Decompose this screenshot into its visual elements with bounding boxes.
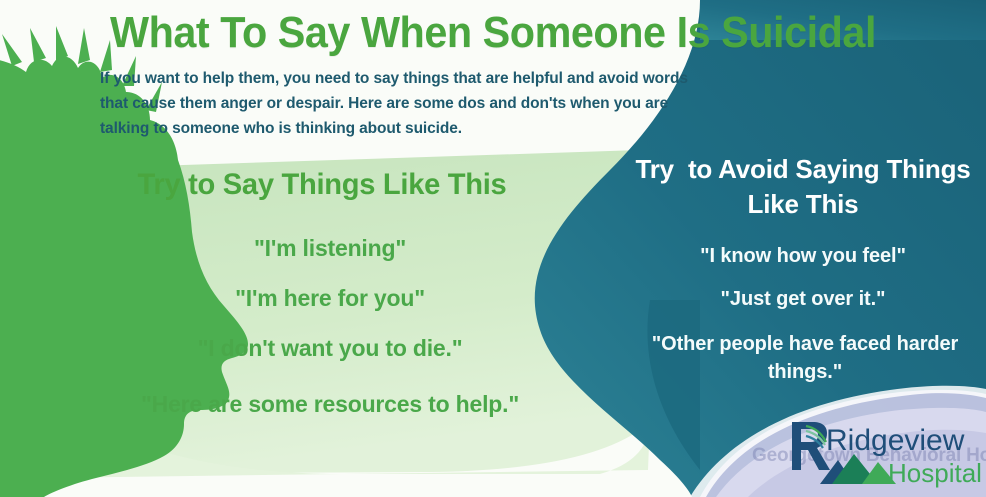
avoid-quote-item: "Other people have faced harder things." <box>640 330 970 386</box>
logo-mountain-icon <box>820 454 896 484</box>
avoid-quote-item: "Just get over it." <box>620 285 986 313</box>
do-column-heading: Try to Say Things Like This <box>70 168 574 202</box>
logo-wordmark-ridgeview: Ridgeview <box>826 424 965 457</box>
logo-r-letterform <box>792 422 830 470</box>
do-quote-item: "I'm listening" <box>110 233 550 265</box>
avoid-column-heading: Try to Avoid Saying Things Like This <box>620 152 986 222</box>
do-quote-item: "I'm here for you" <box>110 283 550 315</box>
do-quote-item: "I don't want you to die." <box>80 333 580 365</box>
do-quote-item: "Here are some resources to help." <box>110 389 550 421</box>
logo-monogram-r <box>792 422 830 470</box>
page-title: What To Say When Someone Is Suicidal <box>30 8 957 58</box>
intro-paragraph: If you want to help them, you need to sa… <box>100 66 700 141</box>
ridgeview-hospital-logo[interactable]: Ridgeview Hospital <box>786 416 982 488</box>
infographic-canvas: What To Say When Someone Is Suicidal If … <box>0 0 986 497</box>
logo-wordmark-hospital: Hospital <box>888 458 982 488</box>
avoid-quote-item: "I know how you feel" <box>620 242 986 270</box>
